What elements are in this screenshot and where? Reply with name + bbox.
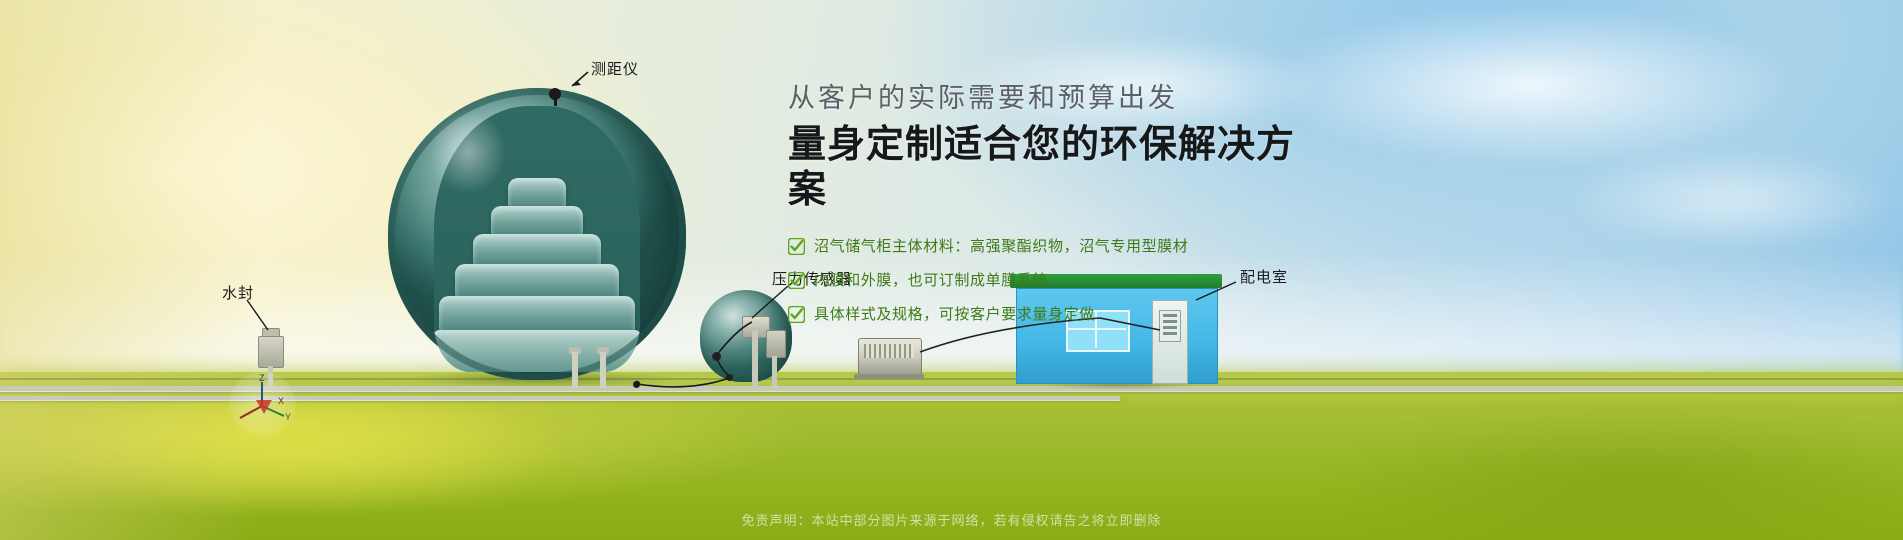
feature-bullet-item: 沼气储气柜主体材料：高强聚酯织物，沼气专用型膜材 — [788, 236, 1308, 257]
secondary-gas-pipeline — [0, 396, 1120, 400]
water-seal-unit — [258, 336, 284, 368]
check-badge-icon — [788, 306, 805, 323]
axis-label-z: Z — [259, 373, 265, 383]
sensor-node-icon — [633, 381, 640, 388]
label-rangefinder: 测距仪 — [591, 58, 639, 79]
disclaimer-text: 免责声明：本站中部分图片来源于网络，若有侵权请告之将立即删除 — [0, 510, 1903, 529]
label-water-seal: 水封 — [222, 282, 254, 303]
feature-bullet-item: 内膜和外膜，也可订制成单膜系统 — [788, 270, 1308, 291]
dome-highlight — [424, 110, 534, 230]
dome-rim — [388, 88, 686, 380]
feature-bullet-text: 沼气储气柜主体材料：高强聚酯织物，沼气专用型膜材 — [814, 236, 1188, 257]
pressure-sensor-unit-2 — [766, 330, 786, 358]
check-badge-icon — [788, 272, 805, 289]
feature-bullet-item: 具体样式及规格，可按客户要求量身定做 — [788, 304, 1308, 325]
hero-banner: Z Y X 测距仪 水封 压力传感器 配电室 从客户的实际需要和预算出发 量身定… — [0, 0, 1903, 540]
axis-label-y: Y — [285, 412, 291, 422]
axis-gizmo: Z Y X — [228, 372, 296, 440]
riser-pipe — [600, 352, 606, 388]
pressure-sensor-stand-2 — [772, 356, 777, 388]
compressor-grill — [864, 344, 914, 358]
check-badge-icon — [788, 238, 805, 255]
rangefinder-icon — [549, 88, 561, 100]
axis-label-x: X — [278, 396, 284, 406]
compressor-base — [854, 374, 924, 379]
feature-bullet-text: 内膜和外膜，也可订制成单膜系统 — [814, 270, 1048, 291]
pressure-sensor-stand — [752, 330, 758, 388]
sensor-node-icon — [726, 374, 733, 381]
feature-bullet-text: 具体样式及规格，可按客户要求量身定做 — [814, 304, 1095, 325]
feature-bullet-list: 沼气储气柜主体材料：高强聚酯织物，沼气专用型膜材 内膜和外膜，也可订制成单膜系统 — [788, 236, 1308, 325]
banner-subtitle: 从客户的实际需要和预算出发 — [788, 82, 1308, 116]
left-vignette — [0, 0, 260, 540]
biogas-dome — [388, 88, 686, 380]
banner-headline: 量身定制适合您的环保解决方案 — [788, 123, 1308, 214]
riser-pipe — [572, 352, 578, 388]
marketing-copy-block: 从客户的实际需要和预算出发 量身定制适合您的环保解决方案 沼气储气柜主体材料：高… — [788, 82, 1308, 338]
sensor-node-icon — [712, 352, 721, 361]
